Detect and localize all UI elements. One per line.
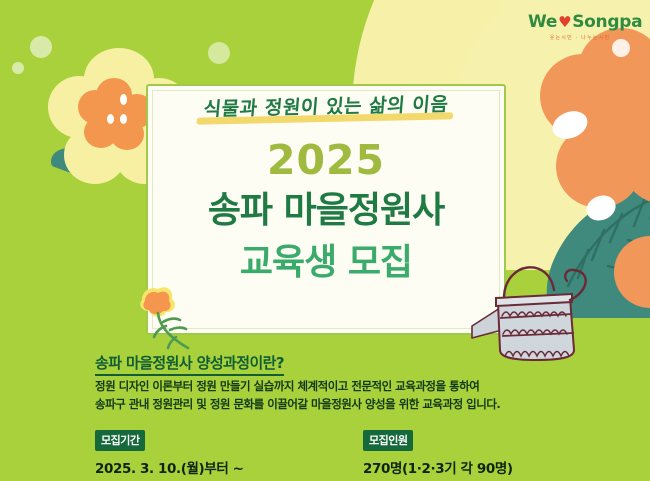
- bubble-decoration: [612, 39, 630, 57]
- sprig-flower-icon: [112, 282, 204, 352]
- about-body-line-1: 정원 디자인 이론부터 정원 만들기 실습까지 체계적이고 전문적인 교육과정을…: [95, 378, 565, 396]
- orange-flower-icon: [548, 28, 650, 213]
- logo-subtitle: 웃는시민 · 나누는시민: [528, 34, 632, 41]
- logo-wordmark: We♥Songpa: [528, 14, 632, 31]
- about-body-line-2: 송파구 관내 정원관리 및 정원 문화를 이끌어갈 마을정원사 양성을 위한 교…: [95, 396, 565, 414]
- about-heading: 송파 마을정원사 양성과정이란?: [95, 352, 284, 376]
- badge-capacity: 모집인원: [363, 430, 413, 451]
- logo-we-text: We: [528, 12, 557, 32]
- poster-canvas: 식물과 정원이 있는 삶의 이음 2025 송파 마을정원사 교육생 모집: [0, 0, 650, 481]
- watering-can-icon: [470, 252, 598, 364]
- tagline-container: 식물과 정원이 있는 삶의 이음: [146, 92, 506, 119]
- about-body: 정원 디자인 이론부터 정원 만들기 실습까지 체계적이고 전문적인 교육과정을…: [95, 378, 565, 414]
- bubble-decoration: [208, 42, 230, 64]
- headline-line-1: 송파 마을정원사: [146, 192, 506, 230]
- value-capacity: 270명(1·2·3기 각 90명): [363, 457, 513, 477]
- bubble-decoration: [12, 62, 24, 74]
- logo-songpa-text: Songpa: [572, 12, 642, 32]
- year-text: 2025: [146, 140, 506, 181]
- bubble-decoration: [30, 36, 52, 58]
- we-songpa-logo: We♥Songpa 웃는시민 · 나누는시민: [528, 14, 632, 41]
- tagline-text: 식물과 정원이 있는 삶의 이음: [198, 89, 453, 121]
- value-period: 2025. 3. 10.(월)부터 ~: [95, 457, 244, 477]
- heart-icon: ♥: [558, 13, 571, 31]
- info-block-period: 모집기간 2025. 3. 10.(월)부터 ~: [95, 430, 244, 477]
- badge-period: 모집기간: [95, 430, 145, 451]
- info-block-capacity: 모집인원 270명(1·2·3기 각 90명): [363, 430, 513, 477]
- headline-line-2: 교육생 모집: [146, 244, 506, 282]
